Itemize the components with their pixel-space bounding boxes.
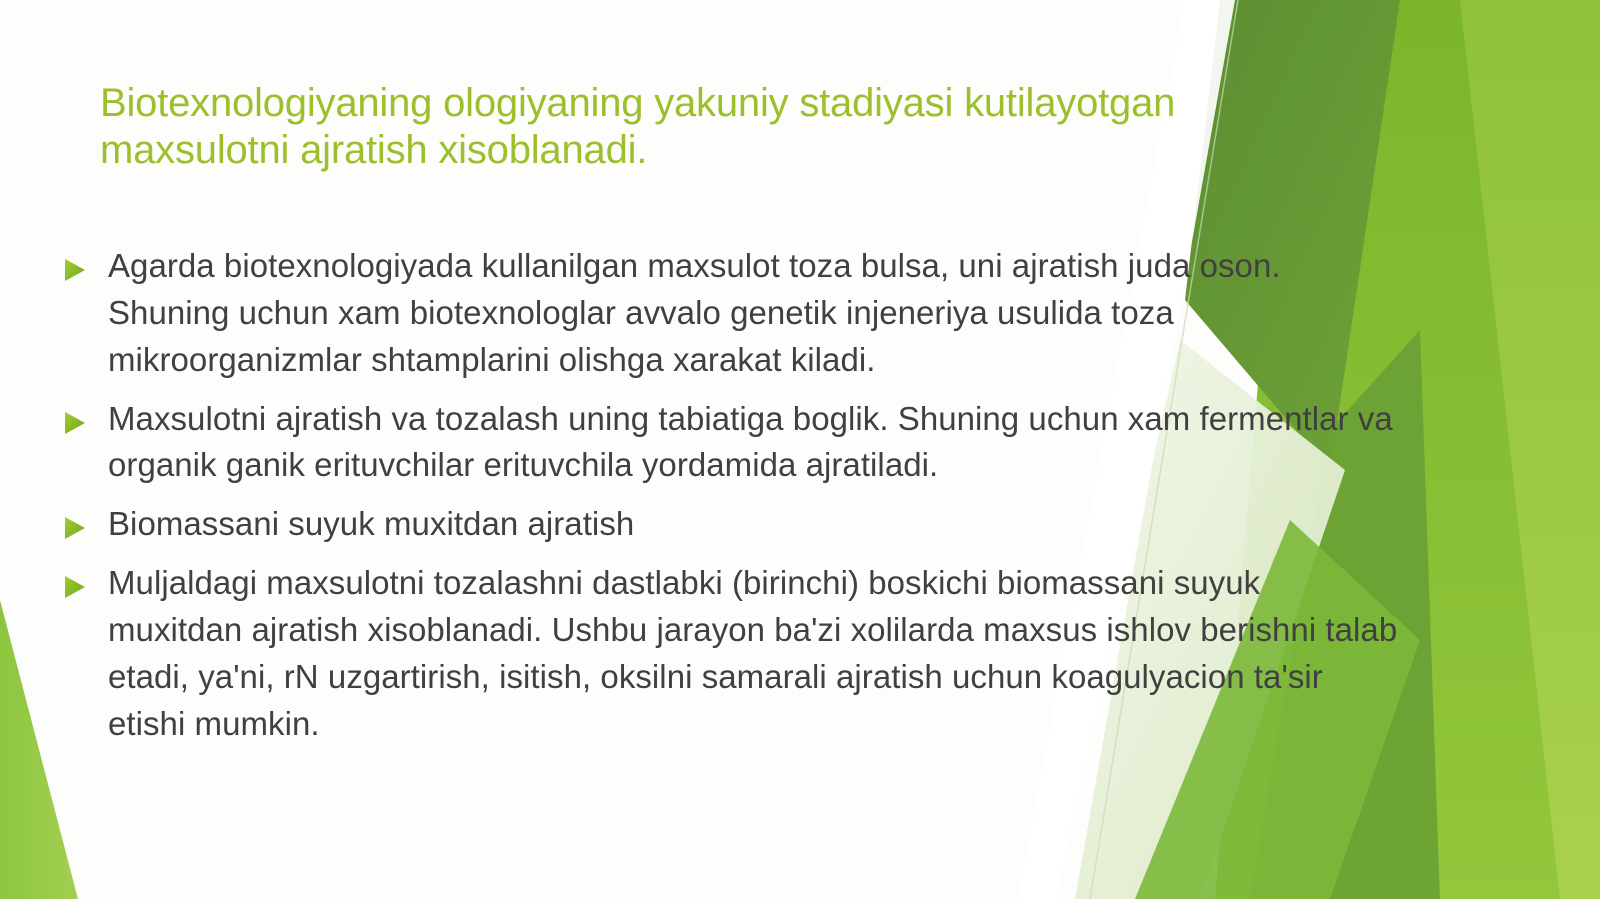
presentation-slide: Biotexnologiyaning ologiyaning yakuniy s… (0, 0, 1600, 899)
slide-title: Biotexnologiyaning ologiyaning yakuniy s… (100, 80, 1280, 174)
triangle-right-icon (62, 501, 108, 541)
triangle-right-icon (62, 243, 108, 283)
list-item: Biomassani suyuk muxitdan ajratish (62, 501, 1402, 548)
list-item-label: Maxsulotni ajratish va tozalash uning ta… (108, 396, 1402, 490)
list-item-label: Muljaldagi maxsulotni tozalashni dastlab… (108, 560, 1402, 747)
list-item-label: Agarda biotexnologiyada kullanilgan maxs… (108, 243, 1402, 384)
list-item-label: Biomassani suyuk muxitdan ajratish (108, 501, 1402, 548)
triangle-right-icon (62, 396, 108, 436)
triangle-right-icon (62, 560, 108, 600)
list-item: Maxsulotni ajratish va tozalash uning ta… (62, 396, 1402, 490)
list-item: Agarda biotexnologiyada kullanilgan maxs… (62, 243, 1402, 384)
slide-body-content: Agarda biotexnologiyada kullanilgan maxs… (62, 243, 1402, 899)
list-item: Muljaldagi maxsulotni tozalashni dastlab… (62, 560, 1402, 747)
